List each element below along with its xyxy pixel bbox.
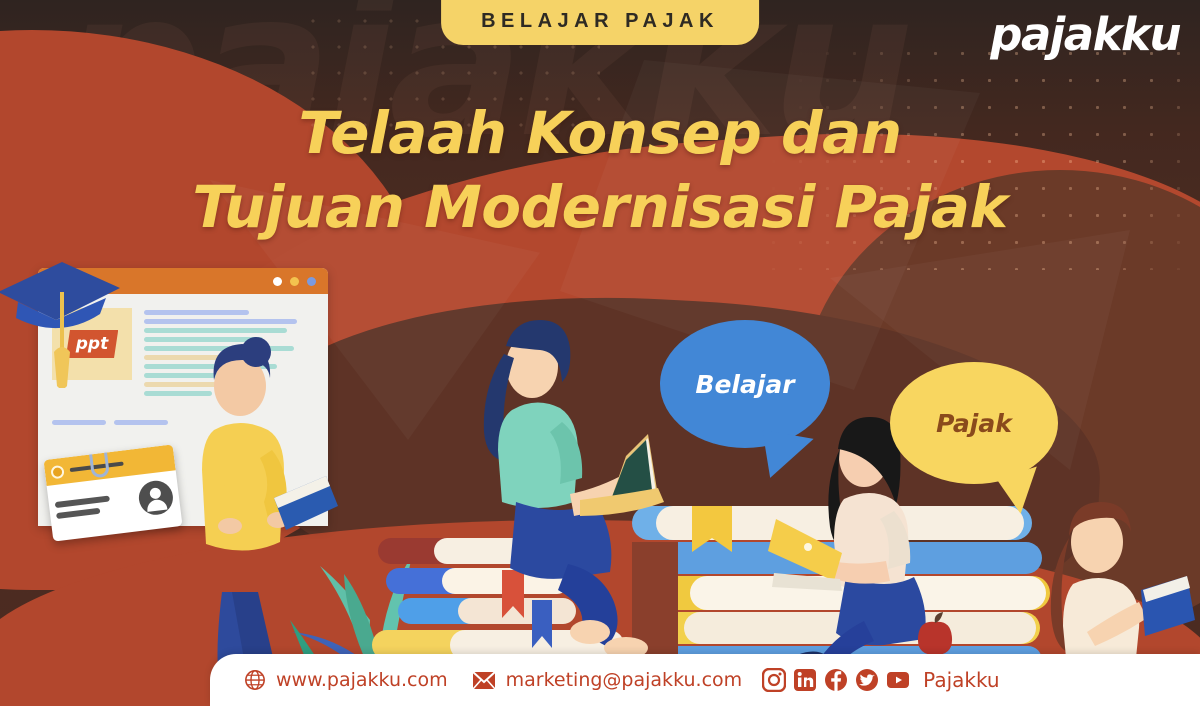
- speech-bubble-pajak-label: Pajak: [936, 409, 1012, 438]
- title-line-1: Telaah Konsep dan: [0, 96, 1200, 170]
- belajar-pajak-badge: BELAJAR PAJAK: [441, 0, 759, 45]
- speech-bubble-belajar: Belajar: [660, 320, 830, 448]
- footer-brand-text: Pajakku: [923, 668, 999, 692]
- instagram-icon[interactable]: [762, 668, 786, 692]
- footer-website-text: www.pajakku.com: [276, 669, 448, 691]
- footer-email-text: marketing@pajakku.com: [506, 669, 743, 691]
- browser-dot-blue: [307, 277, 316, 286]
- footer-email-item[interactable]: marketing@pajakku.com: [472, 669, 743, 691]
- linkedin-icon[interactable]: [793, 668, 817, 692]
- footer-social-row: Pajakku: [762, 668, 999, 692]
- id-card-icon: [43, 444, 182, 541]
- envelope-icon: [472, 671, 496, 690]
- apple-icon: [915, 612, 955, 656]
- browser-dot-white: [273, 277, 282, 286]
- banner-root: pajakku BELAJAR PAJAK pajakku Telaah Kon…: [0, 0, 1200, 706]
- youtube-icon[interactable]: [886, 668, 910, 692]
- facebook-icon[interactable]: [824, 668, 848, 692]
- id-card-seal-icon: [50, 464, 64, 478]
- browser-dot-yellow: [290, 277, 299, 286]
- graduation-cap-icon: [0, 248, 130, 388]
- pajakku-logo: pajakku: [990, 8, 1180, 61]
- footer-website-item[interactable]: www.pajakku.com: [244, 669, 448, 691]
- id-card-avatar: [137, 479, 175, 517]
- id-card-text-lines: [55, 492, 133, 518]
- speech-bubble-blue-tail: [754, 430, 813, 484]
- speech-bubble-belajar-label: Belajar: [695, 370, 794, 399]
- globe-icon: [244, 669, 266, 691]
- footer-contact-bar: www.pajakku.com marketing@pajakku.com: [210, 654, 1200, 706]
- person-woman-with-laptop: [420, 318, 690, 658]
- title-line-2: Tujuan Modernisasi Pajak: [0, 170, 1200, 244]
- page-title: Telaah Konsep dan Tujuan Modernisasi Paj…: [0, 96, 1200, 244]
- person-woman-presenting: [170, 330, 340, 670]
- speech-bubble-pajak: Pajak: [890, 362, 1058, 484]
- twitter-icon[interactable]: [855, 668, 879, 692]
